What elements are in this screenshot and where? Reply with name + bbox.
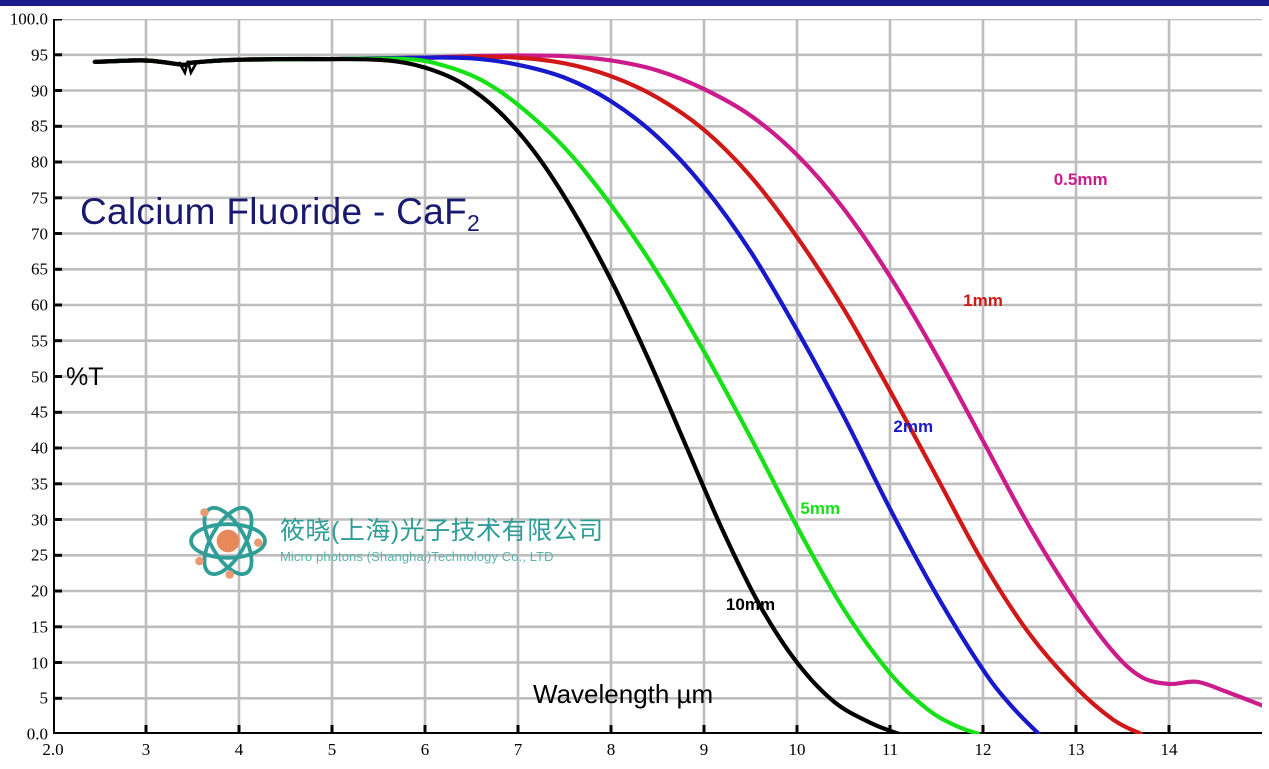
y-tick-label: 85 [31,118,48,135]
y-tick-label: 15 [31,618,48,635]
y-tick-label: 25 [31,547,48,564]
y-tick-label: 30 [31,511,48,528]
series-label-1mm: 1mm [963,291,1003,311]
logo-company-name-en: Micro photons (Shanghai)Technology Co., … [280,549,604,565]
x-tick-label: 5 [328,741,337,758]
x-tick-label: 14 [1161,741,1178,758]
y-tick-label: 90 [31,82,48,99]
top-accent-bar [0,0,1269,6]
title-subscript: 2 [467,210,480,236]
atom-icon [186,499,270,583]
x-tick-label: 13 [1068,741,1085,758]
y-tick-label: 65 [31,261,48,278]
y-tick-label: 50 [31,368,48,385]
x-tick-label: 2.0 [42,741,63,758]
page-title: Calcium Fluoride - CaF2 [80,191,480,233]
plot-area [53,19,1262,734]
series-label-5mm: 5mm [800,499,840,519]
x-tick-label: 11 [882,741,898,758]
title-text: Calcium Fluoride - CaF [80,191,467,232]
y-tick-label: 10 [31,654,48,671]
x-tick-label: 10 [789,741,806,758]
curve-10mm [95,59,899,734]
curve-5mm [95,59,979,734]
y-tick-label: 20 [31,583,48,600]
y-axis-label: %T [66,363,104,392]
x-tick-label: 4 [235,741,244,758]
x-tick-label: 3 [142,741,151,758]
y-tick-label: 40 [31,440,48,457]
y-tick-label: 55 [31,332,48,349]
x-tick-label: 9 [700,741,709,758]
series-label-10mm: 10mm [726,595,775,615]
y-tick-label: 70 [31,225,48,242]
x-axis-label: Wavelength µm [533,679,713,710]
x-tick-label: 6 [421,741,430,758]
y-tick-label: 95 [31,46,48,63]
x-tick-label: 12 [975,741,992,758]
y-tick-label: 100.0 [10,11,48,28]
x-tick-label: 8 [607,741,616,758]
y-tick-label: 60 [31,297,48,314]
curve-0.5mm [95,55,1262,705]
y-tick-label: 45 [31,404,48,421]
series-label-0.5mm: 0.5mm [1054,170,1108,190]
company-logo: 筱晓(上海)光子技术有限公司 Micro photons (Shanghai)T… [186,497,576,585]
logo-text-block: 筱晓(上海)光子技术有限公司 Micro photons (Shanghai)T… [280,517,604,564]
chart-page: 100.095908580757065605550454035302520151… [0,0,1269,769]
y-tick-label: 35 [31,475,48,492]
logo-company-name-cn: 筱晓(上海)光子技术有限公司 [280,517,604,546]
curve-1mm [95,57,1141,734]
y-tick-label: 80 [31,154,48,171]
curve-2mm [95,57,1039,734]
x-tick-label: 7 [514,741,523,758]
y-tick-label: 5 [40,690,49,707]
y-tick-label: 75 [31,189,48,206]
y-axis-tick-labels: 100.095908580757065605550454035302520151… [0,0,48,769]
transmission-curves [53,19,1262,734]
series-label-2mm: 2mm [893,417,933,437]
